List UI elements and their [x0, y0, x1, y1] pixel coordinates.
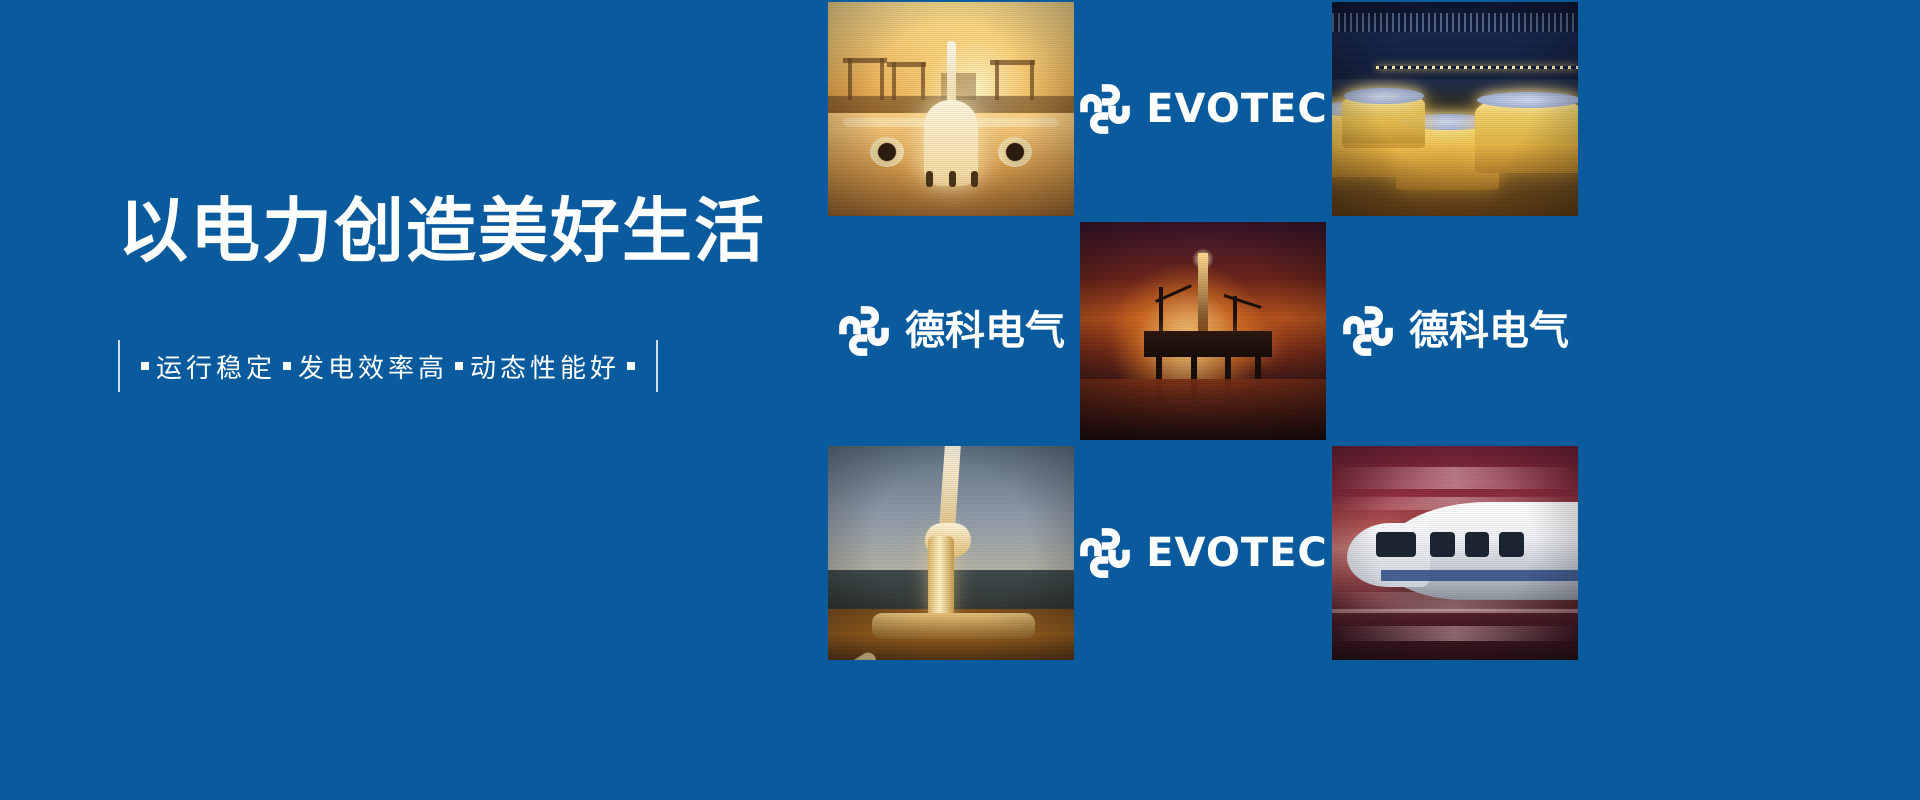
evotec-pinwheel-icon: [1341, 304, 1395, 358]
evotec-pinwheel-icon: [1080, 82, 1132, 136]
feature-item-2: 发电效率高: [298, 348, 448, 385]
square-bullet-icon: [283, 362, 291, 370]
brand-lockup: 德科电气: [1341, 304, 1569, 358]
evotec-pinwheel-icon: [837, 304, 891, 358]
evotec-pinwheel-icon: [1080, 526, 1132, 580]
tile-logo-evotec-top: EVOTEC: [1080, 2, 1326, 216]
page-title: 以电力创造美好生活: [118, 196, 818, 266]
feature-item-1: 运行稳定: [156, 348, 276, 385]
square-bullet-icon: [627, 362, 635, 370]
tile-logo-evotec-bottom: EVOTEC: [1080, 446, 1326, 660]
tile-logo-deke-left: 德科电气: [828, 222, 1074, 440]
tile-high-speed-train: [1332, 446, 1578, 660]
tile-airplane-port-sunset: [828, 2, 1074, 216]
tile-oil-storage-tanks-night: [1332, 2, 1578, 216]
promo-banner: 以电力创造美好生活 运行稳定 发电效率高 动态性能好: [0, 0, 1920, 800]
wordmark-deke: 德科电气: [905, 311, 1065, 351]
tile-logo-deke-right: 德科电气: [1332, 222, 1578, 440]
square-bullet-icon: [141, 362, 149, 370]
feature-list: 运行稳定 发电效率高 动态性能好: [120, 348, 656, 385]
wordmark-evotec: EVOTEC: [1146, 89, 1326, 129]
copy-block: 以电力创造美好生活 运行稳定 发电效率高 动态性能好: [118, 196, 818, 394]
tile-tidal-turbine-dusk: [828, 446, 1074, 660]
wordmark-deke: 德科电气: [1409, 311, 1569, 351]
image-logo-grid: EVOTEC: [828, 0, 1920, 800]
brand-lockup: EVOTEC: [1080, 82, 1326, 136]
right-rule-divider: [656, 340, 658, 392]
brand-lockup: EVOTEC: [1080, 526, 1326, 580]
tile-offshore-oil-rig-sunset: [1080, 222, 1326, 440]
feature-strip: 运行稳定 发电效率高 动态性能好: [118, 338, 818, 394]
feature-item-3: 动态性能好: [470, 348, 620, 385]
wordmark-evotec: EVOTEC: [1146, 533, 1326, 573]
brand-lockup: 德科电气: [837, 304, 1065, 358]
square-bullet-icon: [455, 362, 463, 370]
